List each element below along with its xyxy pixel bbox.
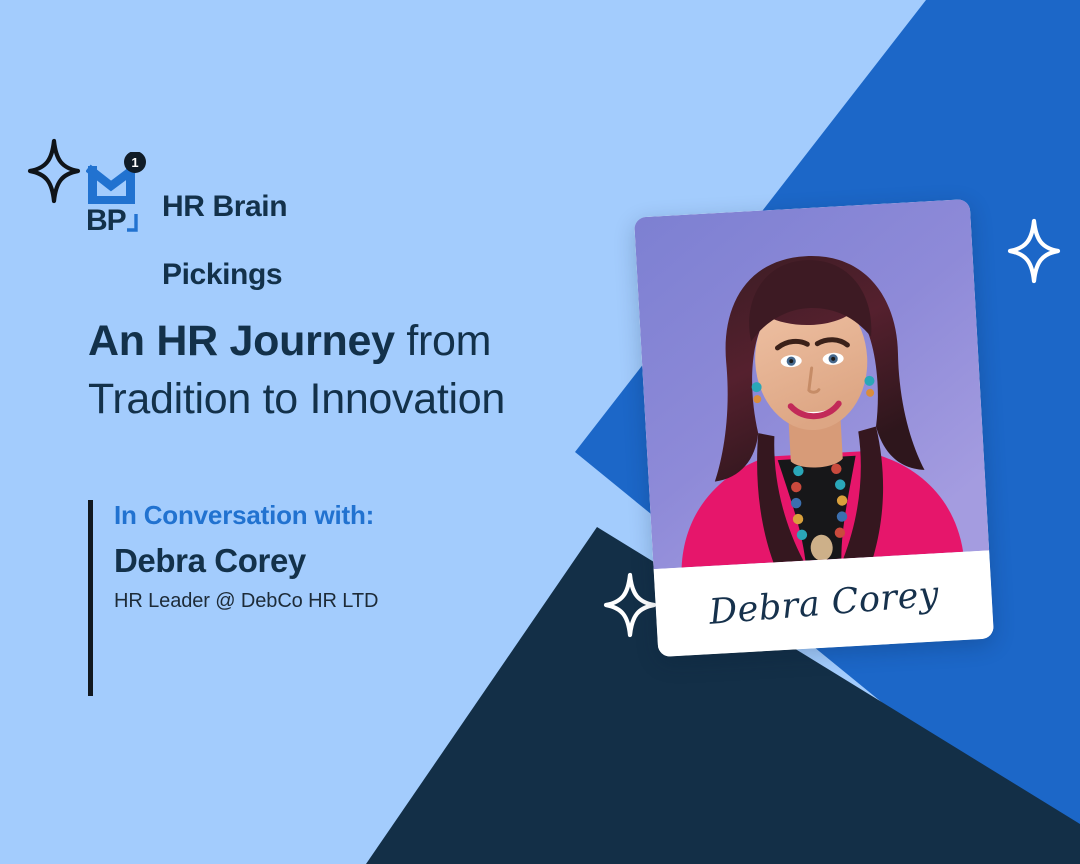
sparkle-icon-left (26, 138, 82, 204)
guest-signature: Debra Corey (707, 575, 940, 633)
brand-logo-wordmark: HR Brain Pickings (162, 152, 287, 292)
svg-text:BP: BP (86, 204, 126, 234)
guest-role: HR Leader @ DebCo HR LTD (114, 590, 378, 613)
headline-line2: Tradition to Innovation (88, 370, 648, 428)
guest-intro-label: In Conversation with: (114, 500, 378, 531)
guest-vertical-rule (88, 500, 93, 696)
guest-block: In Conversation with: Debra Corey HR Lea… (88, 500, 378, 613)
portrait-illustration (634, 199, 989, 569)
brand-logo-line1: HR Brain (162, 190, 287, 223)
sparkle-icon-bottom (602, 572, 658, 638)
brand-logo-mark: 1 BP (86, 152, 148, 234)
headline: An HR Journey from Tradition to Innovati… (88, 312, 648, 429)
polaroid-caption: Debra Corey (654, 550, 994, 657)
guest-polaroid-card: Debra Corey (634, 199, 994, 657)
brand-logo-line2: Pickings (162, 258, 282, 291)
sparkle-icon-right (1006, 218, 1062, 284)
svg-text:1: 1 (131, 155, 138, 170)
brand-logo: 1 BP HR Brain Pickings (86, 152, 287, 292)
hr-bp-monogram-icon: 1 BP (86, 152, 148, 234)
guest-portrait-photo (634, 199, 989, 569)
headline-light: from (395, 317, 491, 365)
poster-canvas: 1 BP HR Brain Pickings An HR Journey fro… (0, 0, 1080, 864)
guest-name: Debra Corey (114, 542, 378, 580)
headline-bold: An HR Journey (88, 317, 395, 365)
